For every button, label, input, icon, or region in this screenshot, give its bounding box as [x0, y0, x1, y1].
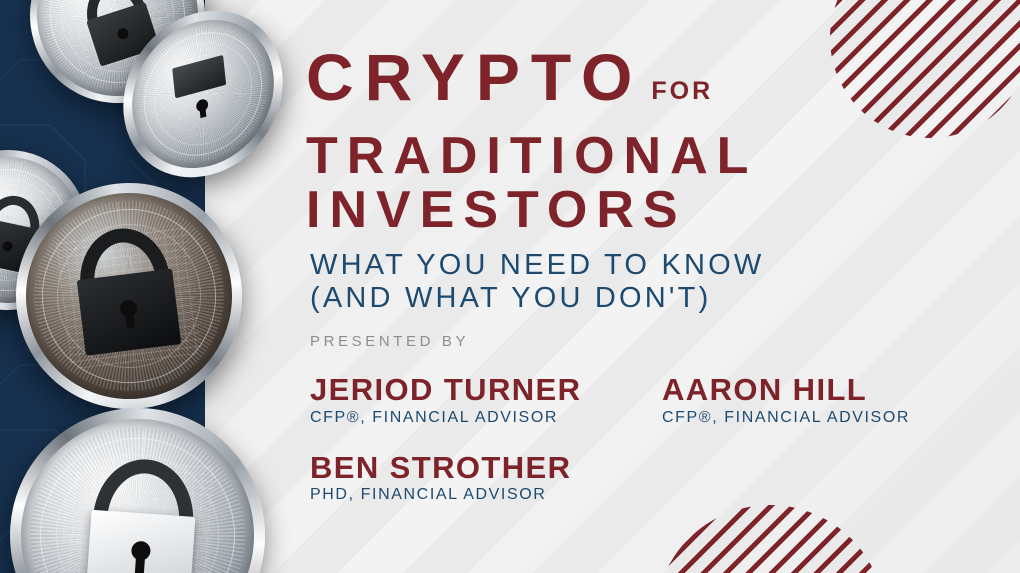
- presenter-credentials: PHD, FINANCIAL ADVISOR: [310, 486, 662, 504]
- title-for-word: FOR: [651, 79, 713, 104]
- slide-content: CRYPTO FOR TRADITIONAL INVESTORS WHAT YO…: [306, 0, 1020, 573]
- title-row: CRYPTO FOR: [306, 44, 713, 110]
- presenter-card: AARON HILL CFP®, FINANCIAL ADVISOR: [662, 374, 910, 427]
- presented-by-label: PRESENTED BY: [310, 333, 469, 350]
- presenter-name: AARON HILL: [662, 374, 910, 407]
- presenter-row-1: JERIOD TURNER CFP®, FINANCIAL ADVISOR AA…: [310, 374, 1010, 427]
- subtitle-line-2: (AND WHAT YOU DON'T): [310, 281, 711, 315]
- presentation-slide: CRYPTO FOR TRADITIONAL INVESTORS WHAT YO…: [0, 0, 1020, 573]
- presenter-credentials: CFP®, FINANCIAL ADVISOR: [310, 409, 662, 427]
- presenter-card: BEN STROTHER PHD, FINANCIAL ADVISOR: [310, 452, 662, 505]
- page-title: CRYPTO: [306, 44, 643, 110]
- presenter-name: JERIOD TURNER: [310, 374, 662, 407]
- presenter-row-2: BEN STROTHER PHD, FINANCIAL ADVISOR: [310, 452, 1010, 505]
- presenter-name: BEN STROTHER: [310, 452, 662, 485]
- title-line-investors: INVESTORS: [306, 184, 687, 236]
- presenters-list: JERIOD TURNER CFP®, FINANCIAL ADVISOR AA…: [310, 374, 1010, 504]
- presenter-card: JERIOD TURNER CFP®, FINANCIAL ADVISOR: [310, 374, 662, 427]
- title-line-traditional: TRADITIONAL: [306, 130, 757, 182]
- presenter-credentials: CFP®, FINANCIAL ADVISOR: [662, 409, 910, 427]
- subtitle-line-1: WHAT YOU NEED TO KNOW: [310, 248, 764, 282]
